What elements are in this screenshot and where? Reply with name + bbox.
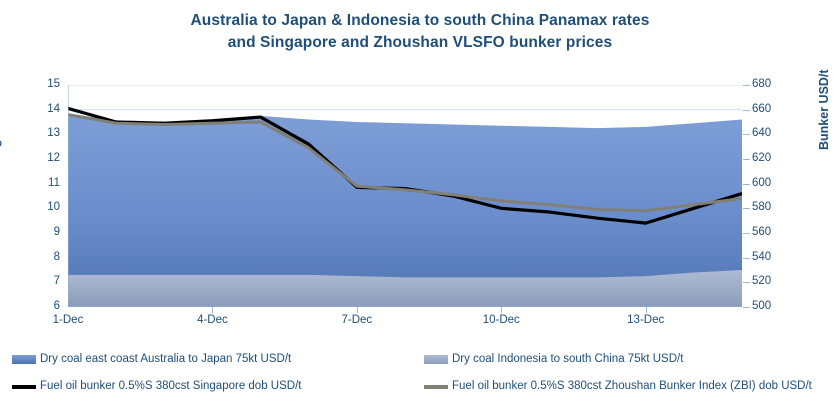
y-axis-right-tick-mark bbox=[743, 282, 750, 283]
y-axis-right-tick-mark bbox=[743, 184, 750, 185]
legend-swatch-indonesia-icon bbox=[424, 355, 448, 364]
chart-title: Australia to Japan & Indonesia to south … bbox=[0, 10, 840, 54]
y-axis-left-title: Freight USD/t bbox=[0, 90, 2, 170]
y-axis-right-tick-mark bbox=[743, 307, 750, 308]
legend-label-indonesia: Dry coal Indonesia to south China 75kt U… bbox=[452, 353, 683, 366]
x-axis-tick: 4-Dec bbox=[182, 314, 242, 326]
y-axis-right-tick: 660 bbox=[752, 103, 786, 115]
y-axis-right-tick: 500 bbox=[752, 300, 786, 312]
y-axis-left-tick: 14 bbox=[34, 103, 60, 115]
legend-swatch-singapore-icon bbox=[12, 385, 36, 389]
y-axis-right-tick-mark bbox=[743, 208, 750, 209]
y-axis-right-tick: 680 bbox=[752, 78, 786, 90]
y-axis-left-tick: 8 bbox=[34, 251, 60, 263]
legend-swatch-zhoushan-icon bbox=[424, 385, 448, 389]
y-axis-left-tick: 13 bbox=[34, 127, 60, 139]
chart-legend: Dry coal east coast Australia to Japan 7… bbox=[0, 349, 840, 409]
x-axis-tick-mark bbox=[212, 307, 213, 313]
x-axis-tick: 13-Dec bbox=[616, 314, 676, 326]
y-axis-right-tick: 640 bbox=[752, 127, 786, 139]
y-axis-right-tick-mark bbox=[743, 233, 750, 234]
y-axis-left-tick: 11 bbox=[34, 177, 60, 189]
y-axis-right-tick: 620 bbox=[752, 152, 786, 164]
y-axis-right-tick: 580 bbox=[752, 201, 786, 213]
legend-swatch-aus-japan-icon bbox=[12, 355, 36, 364]
y-axis-left-tick: 12 bbox=[34, 152, 60, 164]
y-axis-right-tick-mark bbox=[743, 85, 750, 86]
x-axis-tick: 7-Dec bbox=[327, 314, 387, 326]
y-axis-right-tick: 600 bbox=[752, 177, 786, 189]
y-axis-right-tick-mark bbox=[743, 134, 750, 135]
legend-item-singapore[interactable]: Fuel oil bunker 0.5%S 380cst Singapore d… bbox=[12, 380, 301, 393]
y-axis-left-tick: 6 bbox=[34, 300, 60, 312]
y-axis-left-tick: 7 bbox=[34, 275, 60, 287]
legend-item-zhoushan[interactable]: Fuel oil bunker 0.5%S 380cst Zhoushan Bu… bbox=[424, 380, 812, 393]
plot-svg bbox=[68, 85, 742, 307]
x-axis-tick-mark bbox=[501, 307, 502, 313]
y-axis-right-title: Bunker USD/t bbox=[817, 69, 831, 150]
chart-title-line-2: and Singapore and Zhoushan VLSFO bunker … bbox=[0, 32, 840, 54]
y-axis-right-tick-mark bbox=[743, 258, 750, 259]
y-axis-left-tick: 15 bbox=[34, 78, 60, 90]
y-axis-left-tick: 9 bbox=[34, 226, 60, 238]
x-axis-tick-mark bbox=[646, 307, 647, 313]
y-axis-right-tick-mark bbox=[743, 159, 750, 160]
y-axis-right-tick-mark bbox=[743, 110, 750, 111]
legend-label-singapore: Fuel oil bunker 0.5%S 380cst Singapore d… bbox=[40, 380, 301, 393]
chart-container: Australia to Japan & Indonesia to south … bbox=[0, 0, 840, 412]
legend-label-aus-japan: Dry coal east coast Australia to Japan 7… bbox=[40, 353, 291, 366]
x-axis-tick: 10-Dec bbox=[471, 314, 531, 326]
y-axis-right-tick: 540 bbox=[752, 251, 786, 263]
series-layer bbox=[68, 108, 742, 307]
plot-area bbox=[68, 85, 742, 307]
x-axis-tick-mark bbox=[357, 307, 358, 313]
legend-label-zhoushan: Fuel oil bunker 0.5%S 380cst Zhoushan Bu… bbox=[452, 380, 812, 393]
x-axis-tick: 1-Dec bbox=[38, 314, 98, 326]
legend-item-indonesia[interactable]: Dry coal Indonesia to south China 75kt U… bbox=[424, 353, 683, 366]
y-axis-right-tick: 560 bbox=[752, 226, 786, 238]
legend-item-aus-japan[interactable]: Dry coal east coast Australia to Japan 7… bbox=[12, 353, 291, 366]
y-axis-left-tick: 10 bbox=[34, 201, 60, 213]
chart-title-line-1: Australia to Japan & Indonesia to south … bbox=[0, 10, 840, 32]
y-axis-right-tick: 520 bbox=[752, 275, 786, 287]
